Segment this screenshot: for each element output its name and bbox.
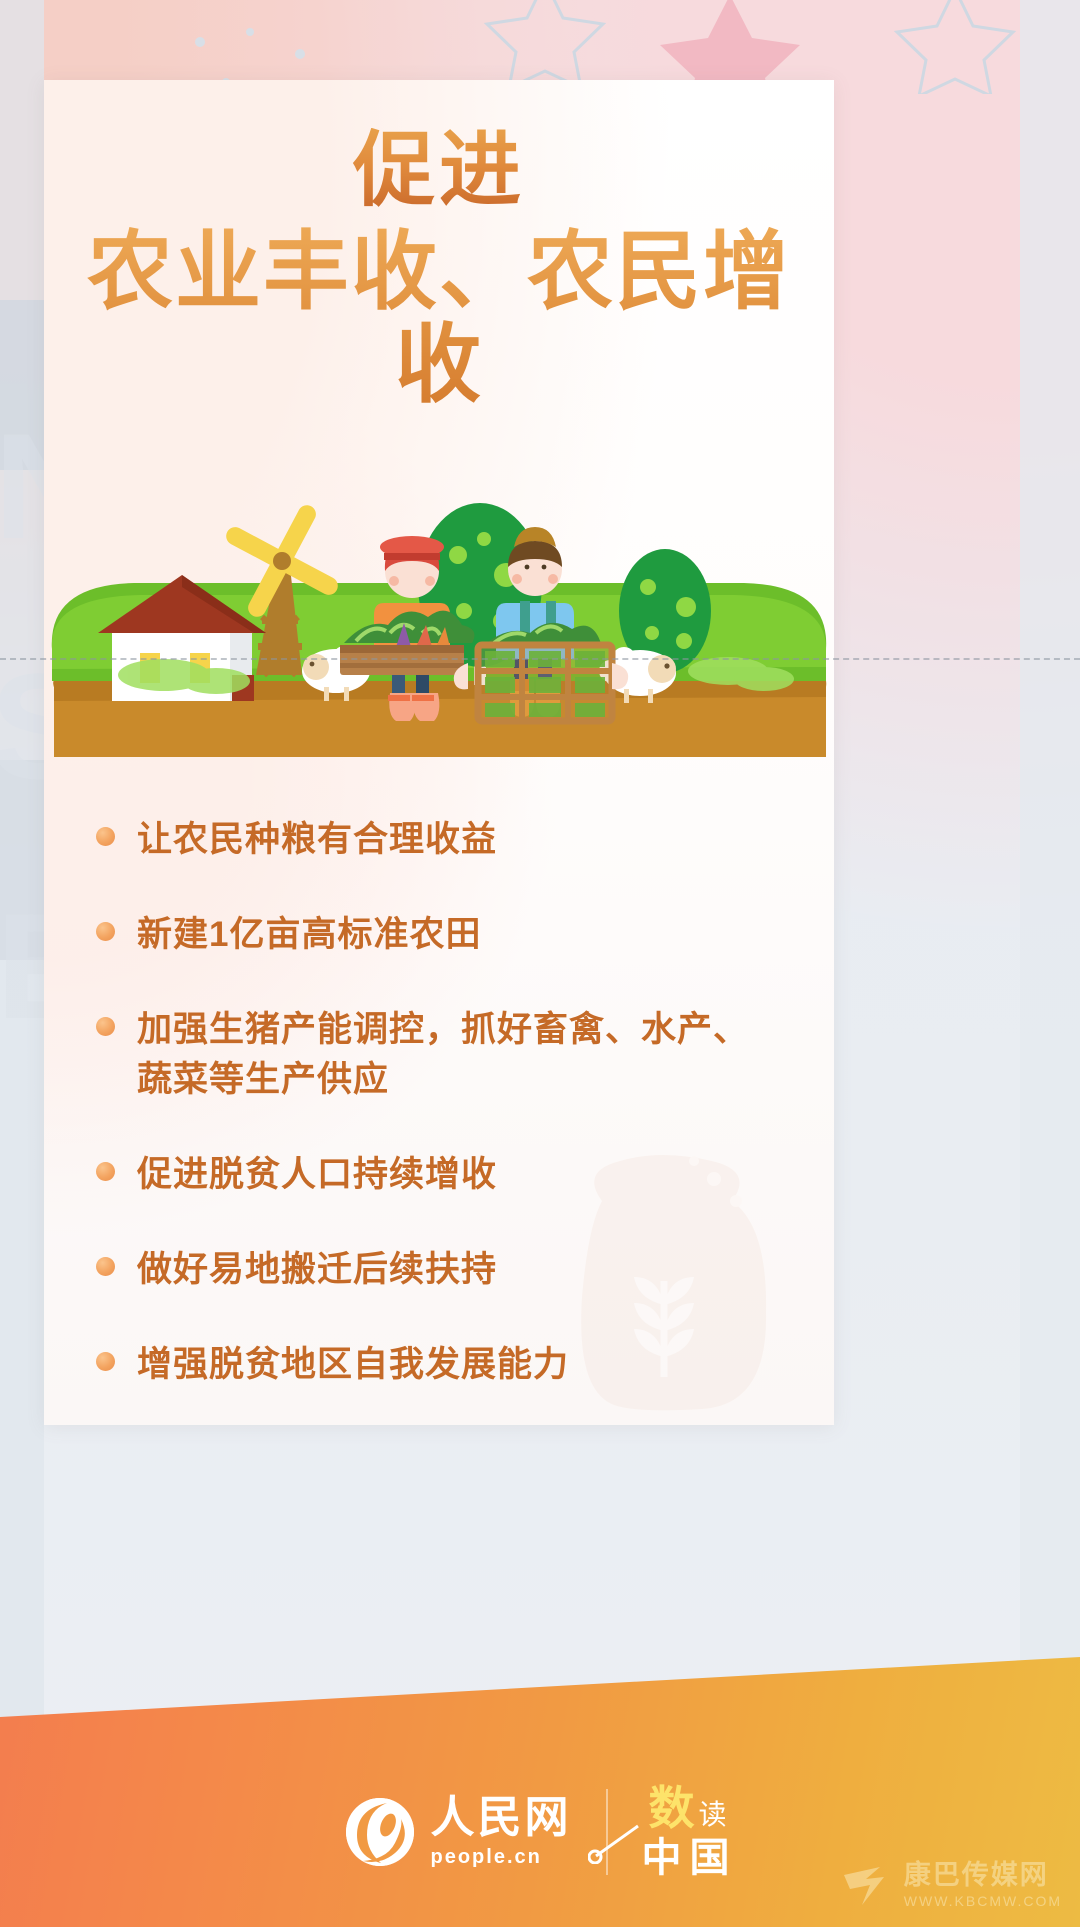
list-item-label: 增强脱贫地区自我发展能力: [137, 1340, 569, 1391]
pin-line-icon: [588, 1820, 644, 1864]
series-char-du: 读: [698, 1799, 730, 1830]
series-logo-bottom: 中国: [642, 1836, 738, 1880]
watermark-name: 康巴传媒网: [904, 1862, 1049, 1889]
guide-line: [0, 658, 1080, 660]
brand-name-cn: 人民网: [431, 1796, 572, 1840]
bullet-list: 让农民种粮有合理收益 新建1亿亩高标准农田 加强生猪产能调控，抓好畜禽、水产、蔬…: [44, 815, 834, 1434]
title-block: 促进 农业丰收、农民增收: [44, 80, 834, 412]
list-item-label: 促进脱贫人口持续增收: [137, 1150, 497, 1201]
bullet-dot-icon: [96, 1352, 115, 1371]
list-item: 让农民种粮有合理收益: [96, 815, 782, 866]
series-logo-top: 数读: [648, 1784, 730, 1832]
list-item: 新建1亿亩高标准农田: [96, 910, 782, 961]
bullet-dot-icon: [96, 1017, 115, 1036]
list-item: 做好易地搬迁后续扶持: [96, 1245, 782, 1296]
decorative-star-outline-icon: [880, 0, 1030, 94]
site-watermark: 康巴传媒网 WWW.KBCMW.COM: [840, 1862, 1062, 1909]
page-title-line2: 农业丰收、农民增收: [44, 226, 834, 412]
bullet-dot-icon: [96, 1162, 115, 1181]
backdrop-band: [1020, 0, 1080, 1927]
people-cn-wordmark: 人民网 people.cn: [431, 1796, 572, 1869]
people-cn-logo[interactable]: 人民网 people.cn: [343, 1795, 572, 1869]
series-logo-shudu-zhongguo[interactable]: 数读 中国: [642, 1784, 738, 1880]
people-globe-icon: [343, 1795, 417, 1869]
list-item: 加强生猪产能调控，抓好畜禽、水产、蔬菜等生产供应: [96, 1005, 782, 1107]
watermark-url: WWW.KBCMW.COM: [904, 1893, 1062, 1909]
brand-name-en: people.cn: [431, 1846, 542, 1869]
series-char-shu: 数: [648, 1782, 698, 1834]
poster-card: 促进 农业丰收、农民增收: [44, 80, 834, 1425]
decorative-star-outline-icon: [470, 0, 620, 86]
page-title-line1: 促进: [44, 128, 834, 214]
list-item: 增强脱贫地区自我发展能力: [96, 1340, 782, 1391]
list-item-label: 加强生猪产能调控，抓好畜禽、水产、蔬菜等生产供应: [137, 1005, 782, 1107]
list-item: 促进脱贫人口持续增收: [96, 1150, 782, 1201]
watermark-text: 康巴传媒网 WWW.KBCMW.COM: [904, 1862, 1062, 1909]
list-item-label: 新建1亿亩高标准农田: [137, 910, 481, 961]
bullet-dot-icon: [96, 827, 115, 846]
bullet-dot-icon: [96, 922, 115, 941]
bullet-dot-icon: [96, 1257, 115, 1276]
list-item-label: 做好易地搬迁后续扶持: [137, 1245, 497, 1296]
farm-illustration: [44, 435, 834, 765]
list-item-label: 让农民种粮有合理收益: [137, 815, 497, 866]
kangba-media-mark-icon: [840, 1863, 892, 1909]
